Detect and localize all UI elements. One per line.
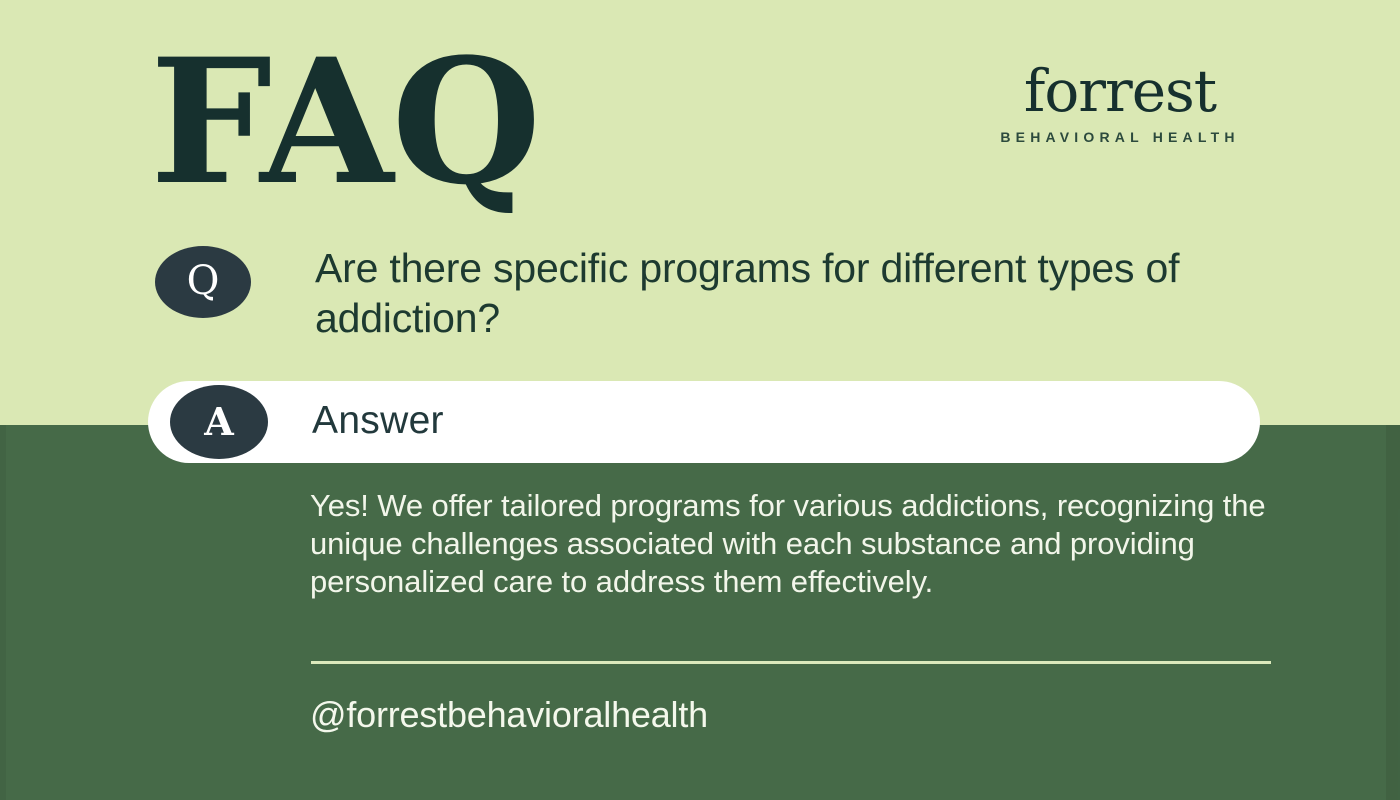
- background-bottom-panel: [0, 425, 1400, 800]
- question-badge: Q: [155, 246, 251, 318]
- page-title: FAQ: [150, 36, 539, 208]
- right-edge-shadow: [1386, 425, 1400, 800]
- faq-card: FAQ forrest BEHAVIORAL HEALTH Q Are ther…: [0, 0, 1400, 800]
- brand-logo: forrest BEHAVIORAL HEALTH: [980, 62, 1260, 145]
- answer-label: Answer: [312, 399, 444, 443]
- logo-tagline: BEHAVIORAL HEALTH: [980, 129, 1260, 145]
- question-text: Are there specific programs for differen…: [315, 244, 1215, 343]
- logo-wordmark: forrest: [980, 62, 1260, 120]
- left-edge-shadow: [0, 425, 6, 800]
- divider-line: [311, 661, 1271, 664]
- question-badge-letter: Q: [187, 261, 220, 301]
- answer-badge: A: [170, 385, 268, 459]
- answer-badge-letter: A: [204, 403, 233, 441]
- social-handle: @forrestbehavioralhealth: [310, 694, 708, 736]
- answer-body-text: Yes! We offer tailored programs for vari…: [310, 487, 1285, 600]
